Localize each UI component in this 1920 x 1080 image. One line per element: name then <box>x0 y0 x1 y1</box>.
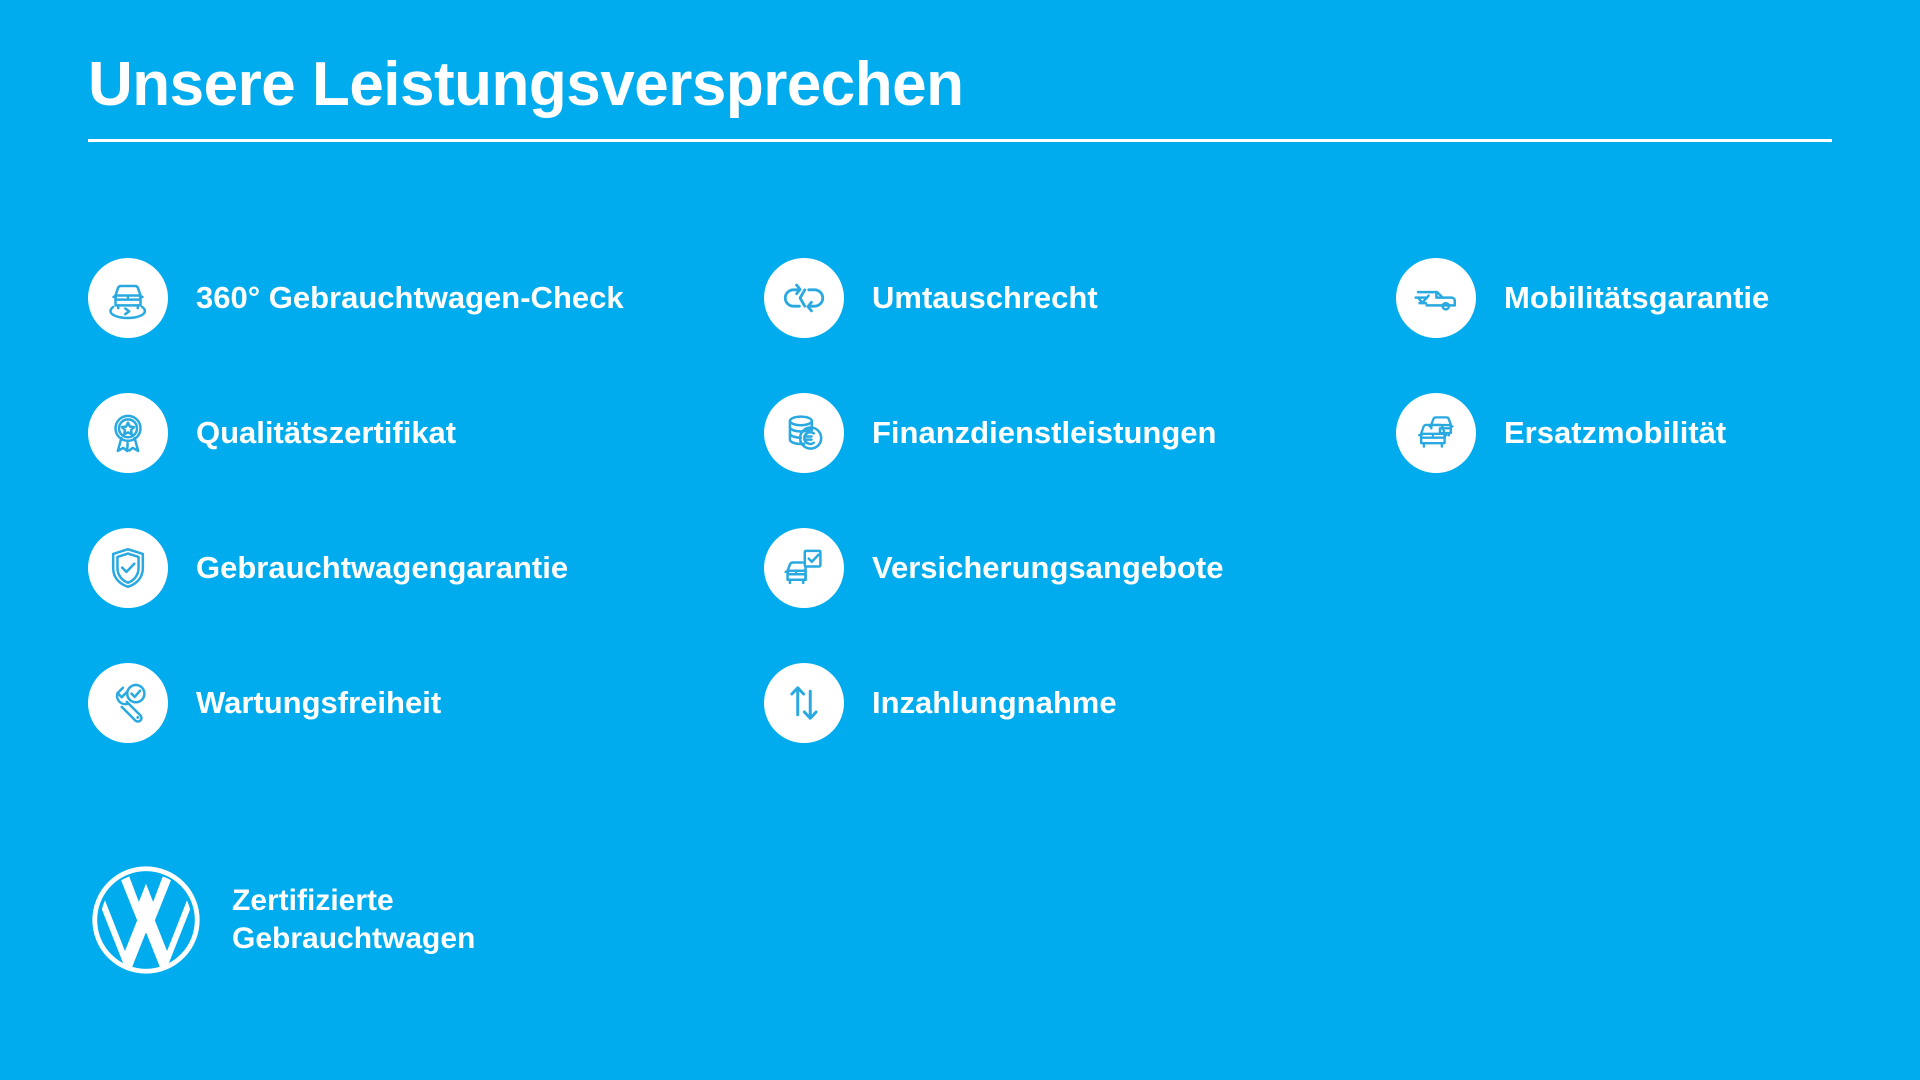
footer-line-2: Gebrauchtwagen <box>232 920 475 958</box>
car-motion-check-icon <box>1396 258 1476 338</box>
up-down-arrows-icon <box>764 663 844 743</box>
promise-label: Qualitätszertifikat <box>196 416 456 450</box>
car-360-rotation-icon <box>88 258 168 338</box>
promise-item-insurance-offers[interactable]: Versicherungsangebote <box>764 528 1396 608</box>
promise-item-replacement-mobility[interactable]: Ersatzmobilität <box>1396 393 1836 473</box>
promise-label: Gebrauchtwagengarantie <box>196 551 568 585</box>
promise-label: 360° Gebrauchtwagen-Check <box>196 281 624 315</box>
promise-slide: Unsere Leistungsversprechen <box>0 0 1920 1080</box>
promise-label: Finanzdienstleistungen <box>872 416 1216 450</box>
promise-item-trade-in[interactable]: Inzahlungnahme <box>764 663 1396 743</box>
promise-item-financial-services[interactable]: Finanzdienstleistungen <box>764 393 1396 473</box>
promise-label: Mobilitätsgarantie <box>1504 281 1769 315</box>
promise-item-used-car-warranty[interactable]: Gebrauchtwagengarantie <box>88 528 764 608</box>
promise-item-360-check[interactable]: 360° Gebrauchtwagen-Check <box>88 258 764 338</box>
certified-used-cars-label: Zertifizierte Gebrauchtwagen <box>232 882 475 959</box>
promise-item-maintenance-free[interactable]: Wartungsfreiheit <box>88 663 764 743</box>
page-title: Unsere Leistungsversprechen <box>88 52 1832 117</box>
promises-grid: 360° Gebrauchtwagen-Check Qualitätszerti… <box>88 258 1848 743</box>
promise-item-mobility-guarantee[interactable]: Mobilitätsgarantie <box>1396 258 1836 338</box>
promise-label: Umtauschrecht <box>872 281 1098 315</box>
two-cars-icon <box>1396 393 1476 473</box>
title-divider <box>88 139 1832 142</box>
promise-label: Ersatzmobilität <box>1504 416 1726 450</box>
promises-column-3: Mobilitätsgarantie <box>1396 258 1836 473</box>
exchange-arrows-icon <box>764 258 844 338</box>
promise-item-quality-certificate[interactable]: Qualitätszertifikat <box>88 393 764 473</box>
promises-column-1: 360° Gebrauchtwagen-Check Qualitätszerti… <box>88 258 764 743</box>
promise-label: Inzahlungnahme <box>872 686 1117 720</box>
coins-euro-icon <box>764 393 844 473</box>
wrench-check-icon <box>88 663 168 743</box>
certified-used-cars-badge: Zertifizierte Gebrauchtwagen <box>88 862 475 978</box>
award-rosette-icon <box>88 393 168 473</box>
promise-item-exchange-right[interactable]: Umtauschrecht <box>764 258 1396 338</box>
shield-check-icon <box>88 528 168 608</box>
car-checklist-icon <box>764 528 844 608</box>
promises-column-2: Umtauschrecht Finanz <box>764 258 1396 743</box>
footer-line-1: Zertifizierte <box>232 882 475 920</box>
promise-label: Versicherungsangebote <box>872 551 1223 585</box>
promise-label: Wartungsfreiheit <box>196 686 441 720</box>
header: Unsere Leistungsversprechen <box>88 52 1832 142</box>
volkswagen-logo-icon <box>88 862 204 978</box>
